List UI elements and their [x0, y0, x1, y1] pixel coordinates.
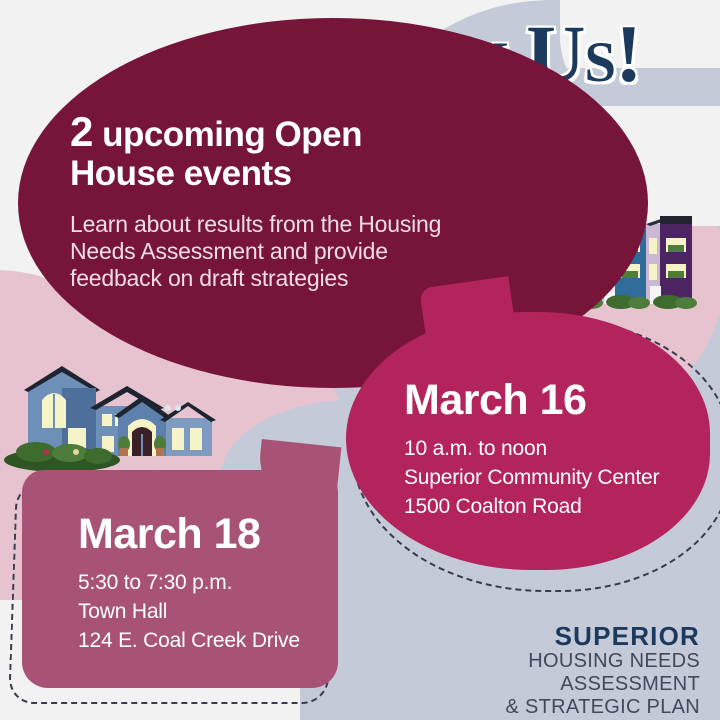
event-march18-title: March 18: [78, 510, 348, 558]
house-icon: [2, 356, 220, 474]
headline-event-count: 2: [70, 108, 93, 155]
main-headline: 2 upcoming Open House events: [70, 112, 510, 193]
event-march16-content: March 16 10 a.m. to noon Superior Commun…: [404, 376, 704, 521]
logo-tagline: HOUSING NEEDS ASSESSMENT & STRATEGIC PLA…: [400, 650, 700, 719]
event-march18-content: March 18 5:30 to 7:30 p.m. Town Hall 124…: [78, 510, 348, 655]
event-march16-details: 10 a.m. to noon Superior Community Cente…: [404, 434, 704, 521]
event-march16-venue: Superior Community Center: [404, 466, 659, 489]
event-march18-venue: Town Hall: [78, 600, 167, 623]
event-march18-details: 5:30 to 7:30 p.m. Town Hall 124 E. Coal …: [78, 568, 348, 655]
logo-lockup: SUPERIOR HOUSING NEEDS ASSESSMENT & STRA…: [400, 622, 700, 719]
main-bubble-content: 2 upcoming Open House events Learn about…: [70, 112, 510, 292]
subhead-line-2: Needs Assessment and provide: [70, 238, 388, 264]
event-march16-time: 10 a.m. to noon: [404, 437, 547, 460]
headline-line2: House events: [70, 154, 292, 193]
subhead-line-3: feedback on draft strategies: [70, 265, 348, 291]
subhead-line-1: Learn about results from the Housing: [70, 211, 441, 237]
logo-tagline-line2: & STRATEGIC PLAN: [506, 696, 700, 718]
main-subheadline: Learn about results from the Housing Nee…: [70, 211, 510, 292]
logo-tagline-line1: HOUSING NEEDS ASSESSMENT: [528, 650, 700, 695]
title-exclamation: !: [615, 8, 641, 99]
headline-rest: upcoming Open: [93, 115, 362, 154]
event-march16-address: 1500 Coalton Road: [404, 495, 582, 518]
event-march16-title: March 16: [404, 376, 704, 424]
poster-canvas: Join Us! 2 upcoming Open House events Le…: [0, 0, 720, 720]
event-march18-address: 124 E. Coal Creek Drive: [78, 629, 300, 652]
event-march18-time: 5:30 to 7:30 p.m.: [78, 571, 232, 594]
logo-brand: SUPERIOR: [400, 622, 700, 650]
